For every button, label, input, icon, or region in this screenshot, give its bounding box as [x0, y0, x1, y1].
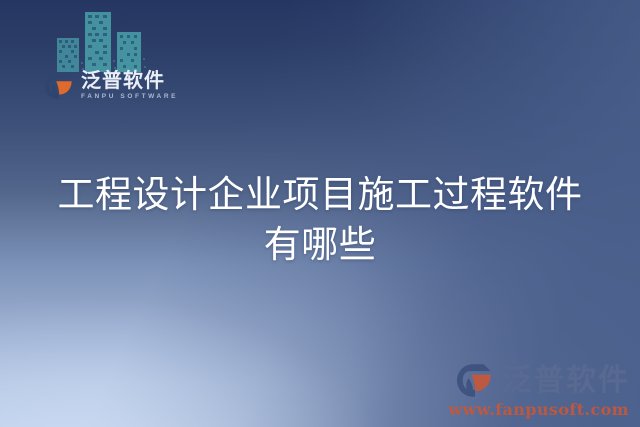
pixel-skyline-icon	[55, 10, 150, 72]
brand-name-cn: 泛普软件	[81, 71, 178, 91]
watermark: 泛普软件 www.fanpusoft.com	[448, 363, 630, 419]
brand-logo: 泛普软件 FANPU SOFTWARE	[44, 71, 178, 101]
watermark-name-cn: 泛普软件	[502, 366, 630, 396]
fanpu-logo-icon	[44, 72, 74, 100]
brand-wordmark: 泛普软件 FANPU SOFTWARE	[81, 71, 178, 101]
page-title-line1: 工程设计企业项目施工过程软件	[0, 170, 640, 220]
page-title-line2: 有哪些	[0, 220, 640, 270]
watermark-url: www.fanpusoft.com	[448, 400, 629, 419]
fanpu-logo-icon	[456, 363, 494, 398]
page-title: 工程设计企业项目施工过程软件 有哪些	[0, 170, 640, 270]
brand-name-en: FANPU SOFTWARE	[81, 94, 178, 101]
promo-banner: 泛普软件 FANPU SOFTWARE 工程设计企业项目施工过程软件 有哪些 泛…	[0, 0, 640, 427]
watermark-logo-row: 泛普软件	[456, 363, 630, 398]
